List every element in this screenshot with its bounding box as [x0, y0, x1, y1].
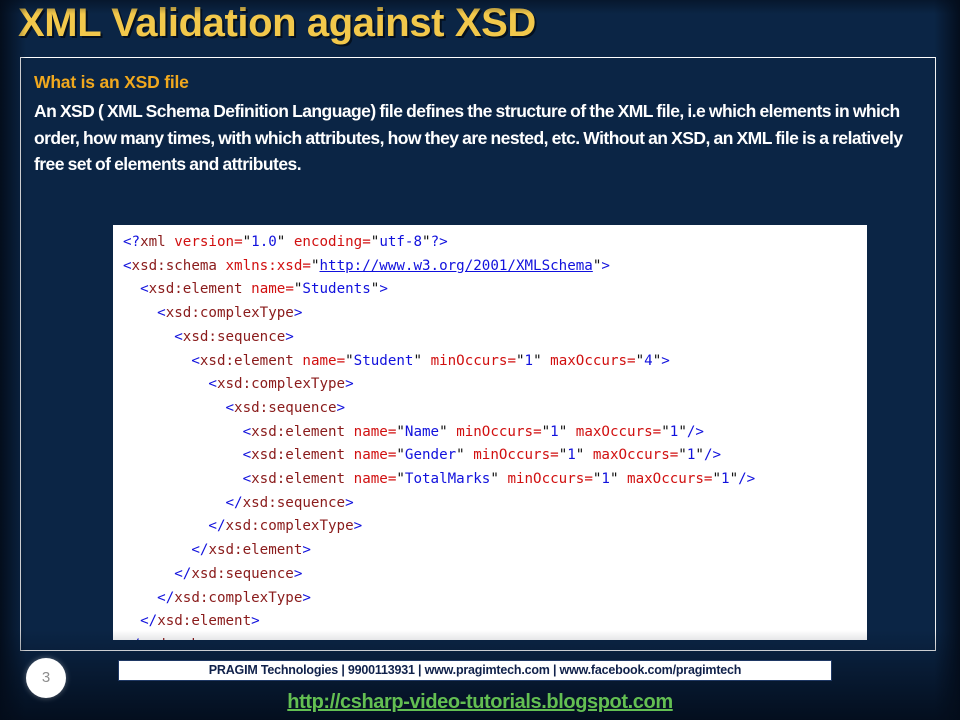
code-line: <xsd:complexType> — [123, 373, 867, 397]
body-paragraph: An XSD ( XML Schema Definition Language)… — [34, 98, 919, 178]
code-line: <xsd:element name="Gender" minOccurs="1"… — [123, 444, 867, 468]
code-line: </xsd:complexType> — [123, 515, 867, 539]
code-line: <xsd:element name="Students"> — [123, 278, 867, 302]
title-bar: XML Validation against XSD — [0, 0, 960, 54]
code-line: </xsd:schema> — [123, 634, 867, 640]
code-line: <xsd:element name="Name" minOccurs="1" m… — [123, 421, 867, 445]
code-line: <xsd:schema xmlns:xsd="http://www.w3.org… — [123, 255, 867, 279]
slide: XML Validation against XSD What is an XS… — [0, 0, 960, 720]
footer-credit-text: PRAGIM Technologies | 9900113931 | www.p… — [119, 661, 831, 680]
code-line: <xsd:sequence> — [123, 397, 867, 421]
code-line: <xsd:element name="TotalMarks" minOccurs… — [123, 468, 867, 492]
code-block: <?xml version="1.0" encoding="utf-8"?><x… — [113, 225, 867, 640]
content-frame: What is an XSD file An XSD ( XML Schema … — [20, 57, 936, 651]
code-line: <xsd:complexType> — [123, 302, 867, 326]
code-line: </xsd:sequence> — [123, 492, 867, 516]
schema-url-link[interactable]: http://www.w3.org/2001/XMLSchema — [319, 258, 592, 274]
code-line: <xsd:element name="Student" minOccurs="1… — [123, 350, 867, 374]
code-line: <xsd:sequence> — [123, 326, 867, 350]
code-line: </xsd:element> — [123, 539, 867, 563]
footer-credit-box: PRAGIM Technologies | 9900113931 | www.p… — [118, 660, 832, 681]
page-title: XML Validation against XSD — [18, 1, 536, 46]
code-line: </xsd:element> — [123, 610, 867, 634]
section-heading: What is an XSD file — [34, 72, 189, 93]
code-text: <?xml version="1.0" encoding="utf-8"?><x… — [113, 225, 867, 640]
blog-url-link[interactable]: http://csharp-video-tutorials.blogspot.c… — [0, 691, 960, 714]
code-line: </xsd:complexType> — [123, 587, 867, 611]
code-line: <?xml version="1.0" encoding="utf-8"?> — [123, 231, 867, 255]
code-line: </xsd:sequence> — [123, 563, 867, 587]
